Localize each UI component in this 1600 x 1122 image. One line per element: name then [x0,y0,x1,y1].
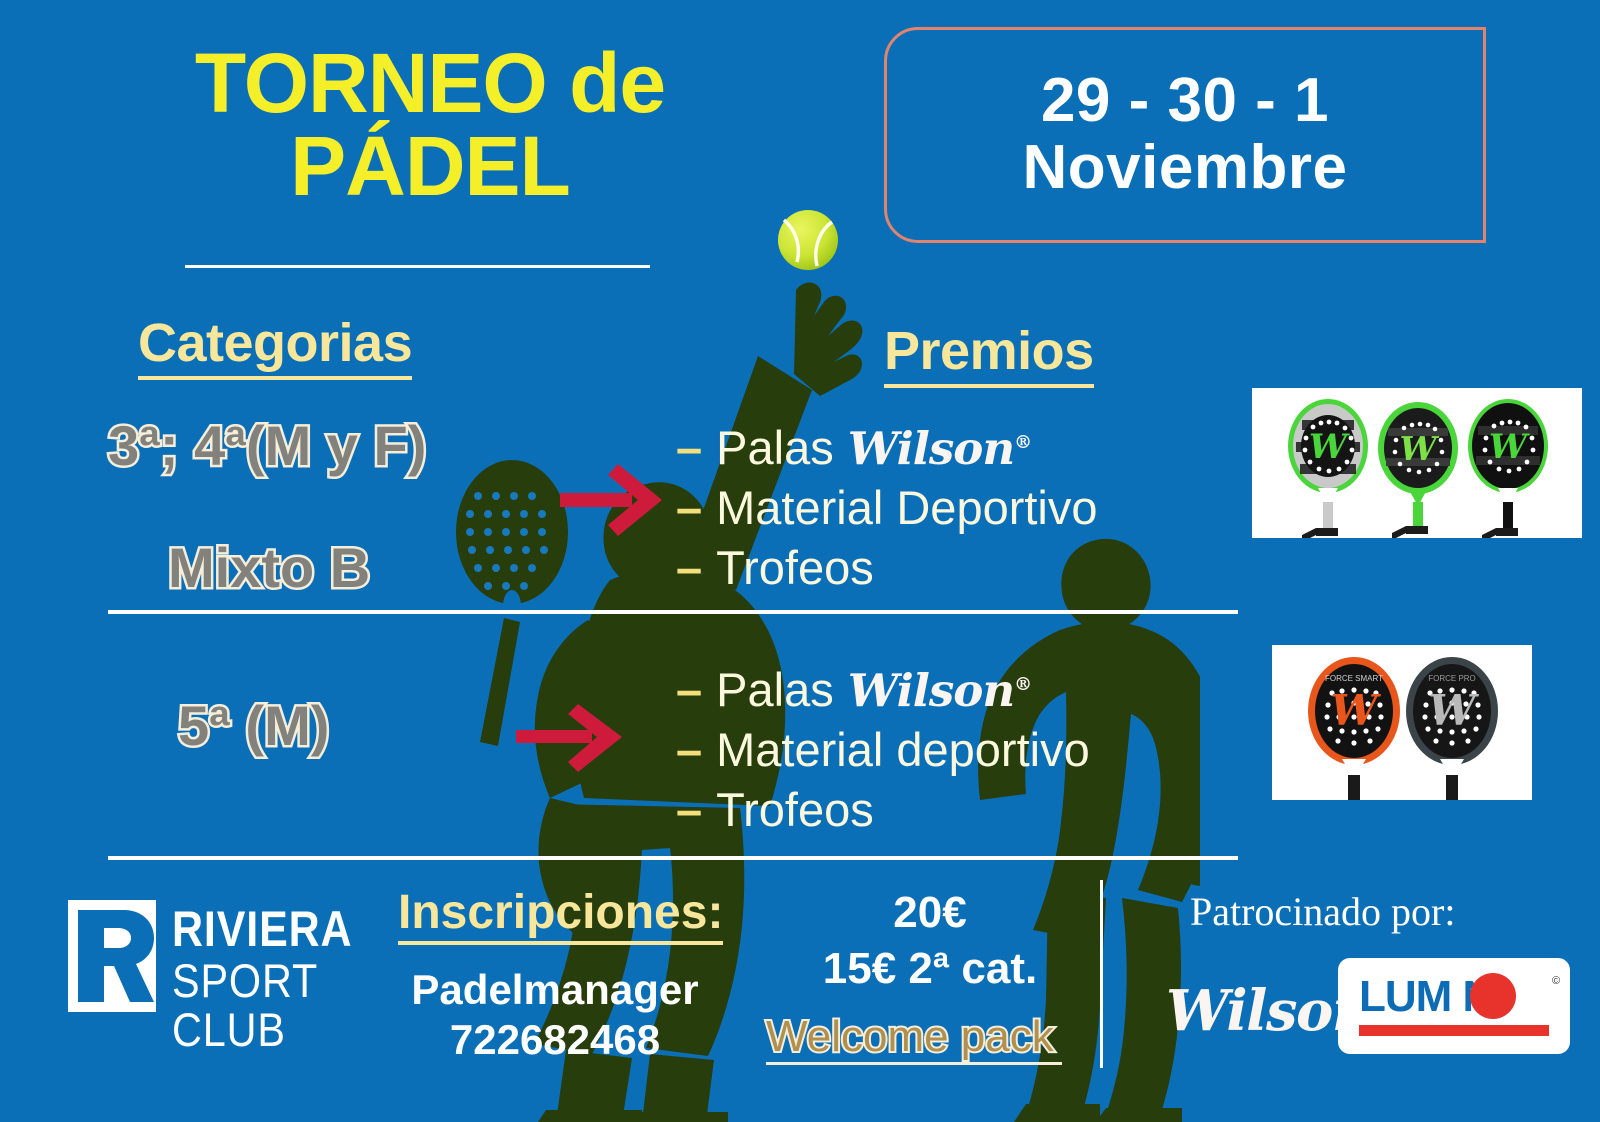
pricing-block: 20€ 15€ 2ª cat. [780,885,1080,998]
lumon-red-circle-icon [1470,973,1516,1019]
svg-text:W: W [1330,686,1381,735]
registration-platform: Padelmanager [400,965,710,1015]
lumon-red-bar [1359,1025,1549,1036]
registration-details: Padelmanager 722682468 [400,965,710,1064]
categories-heading-text: Categorias [138,313,412,373]
tennis-ball [772,204,844,276]
bullet-dash: – [676,780,702,840]
prizes-group-1: – Palas Wilson® – Material Deportivo – T… [676,418,1196,598]
prize-row: – Trofeos [676,538,1196,598]
prize-text: Material Deportivo [716,478,1097,538]
svg-text:W: W [1399,429,1439,468]
padel-tournament-poster: TORNEO de PÁDEL 29 - 30 - 1 Noviembre Ca… [0,0,1600,1122]
racket-photo-orange: FORCE SMART W FORCE PRO [1272,645,1532,800]
bullet-dash: – [676,720,702,780]
categories-heading-underline [138,376,412,380]
welcome-pack-underline [766,1062,1062,1065]
prize-row: – Trofeos [676,780,1196,840]
riviera-subtitle: SPORT CLUB [172,956,374,1055]
event-date-box: 29 - 30 - 1 Noviembre [884,27,1486,243]
price-second-category: 15€ 2ª cat. [780,941,1080,997]
riviera-r-monogram-icon [68,900,156,1012]
categories-heading: Categorias [138,312,412,380]
category-item-1: 3ª; 4ª(M y F) [108,413,426,478]
svg-text:W: W [1489,427,1530,467]
event-date-text: 29 - 30 - 1 Noviembre [1023,68,1348,202]
title-underline-rule [185,265,650,268]
category-item-3: 5ª (M) [178,693,329,758]
event-month: Noviembre [1023,135,1348,202]
prize-row: – Palas Wilson® [676,418,1196,478]
prize-text: Trofeos [716,538,874,598]
poster-title: TORNEO de PÁDEL [120,42,740,208]
svg-text:W: W [1309,427,1350,467]
title-line-2: PÁDEL [120,125,740,208]
sponsor-vertical-divider [1100,880,1103,1068]
registration-heading-text: Inscripciones: [398,886,723,939]
racket-photo-green: W W [1252,388,1582,538]
prize-text: Palas [716,418,834,478]
riviera-name: RIVIERA [172,904,370,954]
bullet-dash: – [676,418,702,478]
section-divider-2 [108,856,1238,860]
registration-phone[interactable]: 722682468 [400,1015,710,1065]
prizes-heading-text: Premios [884,321,1094,381]
bullet-dash: – [676,538,702,598]
event-days: 29 - 30 - 1 [1023,68,1348,135]
registration-heading: Inscripciones: [398,885,723,945]
prizes-heading: Premios [884,320,1094,388]
svg-text:FORCE SMART: FORCE SMART [1325,674,1383,683]
category-item-2: Mixto B [168,535,370,600]
lumon-registered-mark: © [1552,975,1560,987]
riviera-sport-club-logo: RIVIERA SPORT CLUB [68,900,398,1020]
prize-row: – Material Deportivo [676,478,1196,538]
prize-text: Material deportivo [716,720,1090,780]
prizes-group-2: – Palas Wilson® – Material deportivo – T… [676,660,1196,840]
title-line-1: TORNEO de [120,42,740,125]
wilson-brand-text: Wilson® [848,420,1031,478]
red-arrow-right-icon-2 [516,700,630,778]
sponsor-lumon-logo: LUM N © [1338,958,1570,1054]
svg-text:W: W [1428,686,1479,735]
welcome-pack-label: Welcome pack [766,1012,1054,1062]
prize-text: Palas [716,660,834,720]
prize-text: Trofeos [716,780,874,840]
red-arrow-right-icon-1 [560,458,670,542]
riviera-wordmark: RIVIERA SPORT CLUB [172,904,402,1055]
sponsors-heading: Patrocinado por: [1190,888,1456,935]
price-main: 20€ [780,885,1080,941]
prize-row: – Palas Wilson® [676,660,1196,720]
prizes-heading-underline [884,384,1094,388]
svg-text:FORCE PRO: FORCE PRO [1428,674,1476,683]
wilson-brand-text: Wilson® [848,662,1031,720]
bullet-dash: – [676,478,702,538]
registration-heading-underline [398,941,723,945]
prize-row: – Material deportivo [676,720,1196,780]
bullet-dash: – [676,660,702,720]
sponsor-lumon-text: LUM N [1359,975,1549,1019]
section-divider-1 [108,610,1238,614]
